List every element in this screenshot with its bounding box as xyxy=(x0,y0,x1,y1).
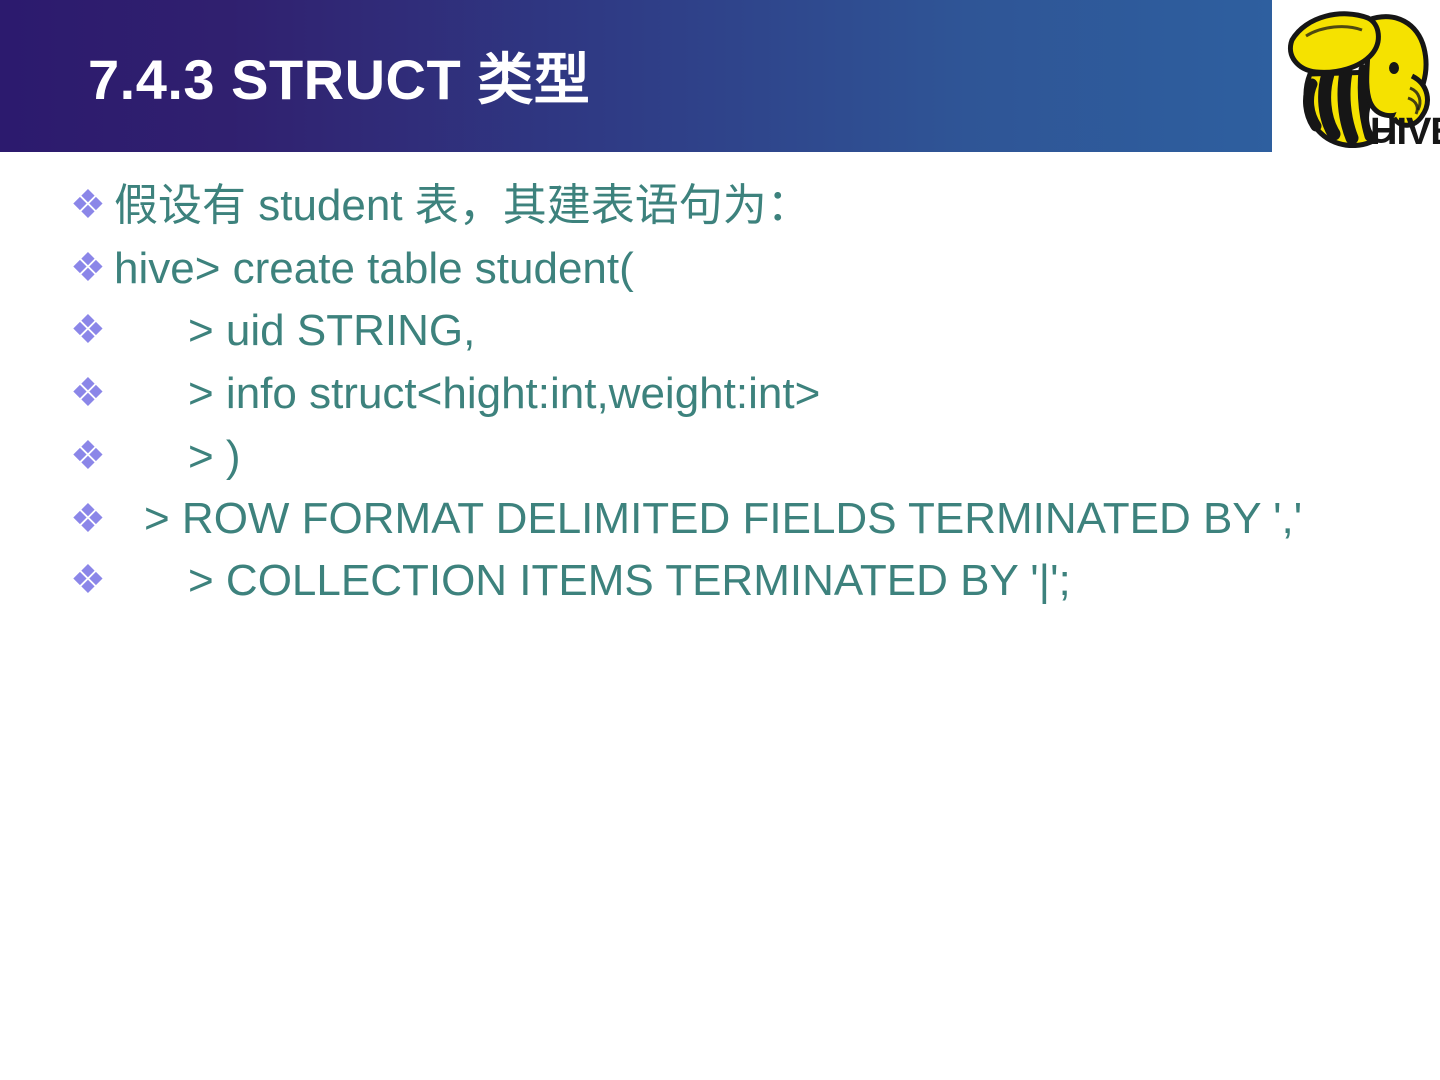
bullet-line-7: ❖ > COLLECTION ITEMS TERMINATED BY '|'; xyxy=(0,551,1440,612)
bullet-line-3: ❖ > uid STRING, xyxy=(0,301,1440,362)
bullet-diamond-icon: ❖ xyxy=(70,551,114,610)
bullet-line-1: ❖ 假设有 student 表，其建表语句为： xyxy=(0,176,1440,237)
bullet-diamond-icon: ❖ xyxy=(70,176,114,235)
hive-logo: HIVE xyxy=(1272,2,1440,160)
bullet-line-2: ❖ hive> create table student( xyxy=(0,239,1440,300)
bullet-diamond-icon: ❖ xyxy=(70,427,114,486)
bullet-diamond-icon: ❖ xyxy=(70,239,114,298)
slide-content: ❖ 假设有 student 表，其建表语句为： ❖ hive> create t… xyxy=(0,176,1440,614)
bullet-text-1: 假设有 student 表，其建表语句为： xyxy=(114,176,1440,237)
bullet-text-6: > ROW FORMAT DELIMITED FIELDS TERMINATED… xyxy=(70,490,1440,547)
hive-elephant-icon: HIVE xyxy=(1272,2,1440,160)
bullet-text-4: > info struct<hight:int,weight:int> xyxy=(114,364,1440,425)
bullet-diamond-icon: ❖ xyxy=(70,364,114,423)
bullet-line-5: ❖ > ) xyxy=(0,427,1440,488)
bullet-diamond-icon: ❖ xyxy=(70,301,114,360)
page-title: 7.4.3 STRUCT 类型 xyxy=(88,52,590,108)
bullet-line-6: ❖ > ROW FORMAT DELIMITED FIELDS TERMINAT… xyxy=(0,490,1440,549)
hive-wordmark: HIVE xyxy=(1370,111,1440,153)
bullet-text-7: > COLLECTION ITEMS TERMINATED BY '|'; xyxy=(114,551,1440,612)
bullet-text-2: hive> create table student( xyxy=(114,239,1440,300)
bullet-line-4: ❖ > info struct<hight:int,weight:int> xyxy=(0,364,1440,425)
bullet-text-5: > ) xyxy=(114,427,1440,488)
bullet-text-3: > uid STRING, xyxy=(114,301,1440,362)
